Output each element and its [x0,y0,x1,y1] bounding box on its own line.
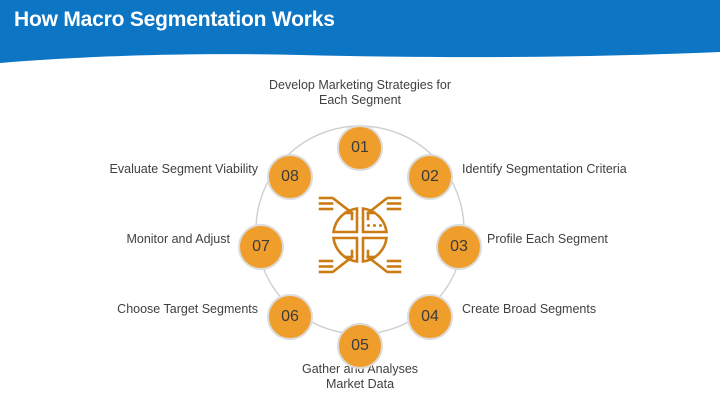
page-title: How Macro Segmentation Works [14,8,335,32]
page-header: How Macro Segmentation Works [0,0,720,70]
node-07[interactable]: 07 [238,224,284,270]
node-number: 02 [421,168,439,186]
node-number: 06 [281,308,299,326]
node-04[interactable]: 04 [407,294,453,340]
node-label-01: Develop Marketing Strategies for Each Se… [240,78,480,108]
node-label-08: Evaluate Segment Viability [8,162,258,177]
node-label-07: Monitor and Adjust [8,232,230,247]
segmented-circle-icon [318,193,402,277]
node-03[interactable]: 03 [436,224,482,270]
node-08[interactable]: 08 [267,154,313,200]
node-number: 05 [351,337,369,355]
node-05[interactable]: 05 [337,323,383,369]
node-label-03: Profile Each Segment [487,232,712,247]
node-01[interactable]: 01 [337,125,383,171]
node-number: 08 [281,168,299,186]
node-number: 01 [351,139,369,157]
node-label-02: Identify Segmentation Criteria [462,162,712,177]
cycle-diagram: 01 02 03 04 05 06 07 08 Develop Marketin… [0,62,720,405]
node-number: 07 [252,238,270,256]
node-number: 03 [450,238,468,256]
node-06[interactable]: 06 [267,294,313,340]
node-02[interactable]: 02 [407,154,453,200]
node-number: 04 [421,308,439,326]
node-label-06: Choose Target Segments [8,302,258,317]
node-label-04: Create Broad Segments [462,302,712,317]
